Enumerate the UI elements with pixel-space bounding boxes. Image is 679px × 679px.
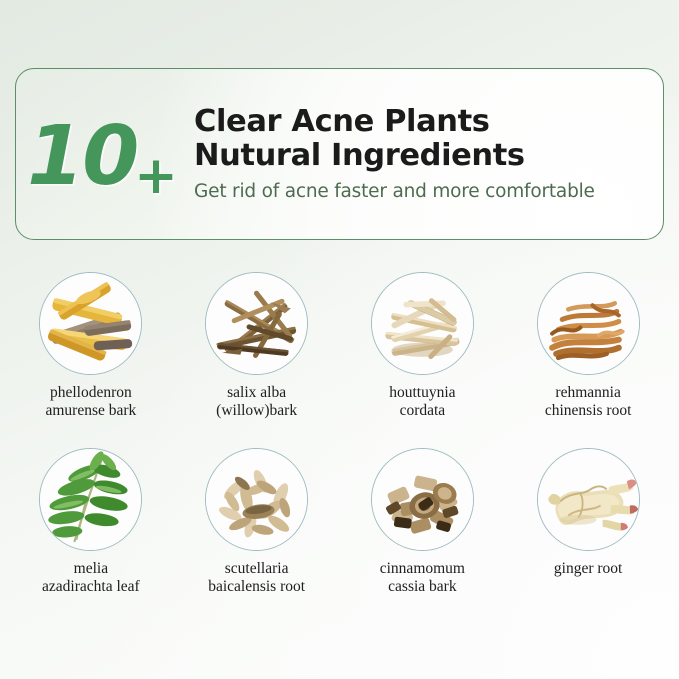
ingredient-count-badge: 10+ xyxy=(18,116,190,198)
ingredient-label: houttuynia cordata xyxy=(389,384,455,420)
rehmannia-root-strands-photo xyxy=(537,272,640,375)
ingredient-card-melia-azadirachta-leaf: melia azadirachta leaf xyxy=(8,448,174,596)
scutellaria-root-chips-photo xyxy=(205,448,308,551)
ingredient-label: melia azadirachta leaf xyxy=(42,560,140,596)
ingredient-card-phellodenron-amurense-bark: phellodenron amurense bark xyxy=(8,272,174,420)
ingredient-label: cinnamomum cassia bark xyxy=(380,560,465,596)
ingredient-label: scutellaria baicalensis root xyxy=(208,560,305,596)
houttuynia-dried-roots-photo xyxy=(371,272,474,375)
banner-subtitle: Get rid of acne faster and more comforta… xyxy=(194,181,649,203)
phellodendron-bark-photo xyxy=(39,272,142,375)
ingredient-label: phellodenron amurense bark xyxy=(45,384,136,420)
ingredient-card-houttuynia-cordata: houttuynia cordata xyxy=(340,272,506,420)
ingredient-count-plus: + xyxy=(134,146,178,206)
promotional-infographic: 10+ Clear Acne Plants Nutural Ingredient… xyxy=(0,0,679,679)
ginger-rhizome-photo xyxy=(537,448,640,551)
cassia-bark-curls-photo xyxy=(371,448,474,551)
ingredient-card-salix-alba-willow-bark: salix alba (willow)bark xyxy=(174,272,340,420)
ingredient-label: rehmannia chinensis root xyxy=(545,384,632,420)
ingredient-card-rehmannia-chinensis-root: rehmannia chinensis root xyxy=(505,272,671,420)
headline-line-1: Clear Acne Plants xyxy=(194,105,649,139)
banner-text-block: Clear Acne Plants Nutural Ingredients Ge… xyxy=(190,105,663,203)
ingredient-label: salix alba (willow)bark xyxy=(216,384,297,420)
headline-line-2: Nutural Ingredients xyxy=(194,139,649,173)
ingredient-label: ginger root xyxy=(554,560,622,578)
ingredient-card-scutellaria-baicalensis-root: scutellaria baicalensis root xyxy=(174,448,340,596)
ingredient-card-cinnamomum-cassia-bark: cinnamomum cassia bark xyxy=(340,448,506,596)
ingredient-grid: phellodenron amurense bark xyxy=(8,272,671,597)
willow-bark-twigs-photo xyxy=(205,272,308,375)
melia-neem-leaf-photo xyxy=(39,448,142,551)
ingredient-count-number: 10 xyxy=(27,109,137,204)
highlight-banner: 10+ Clear Acne Plants Nutural Ingredient… xyxy=(15,68,664,240)
ingredient-card-ginger-root: ginger root xyxy=(505,448,671,596)
